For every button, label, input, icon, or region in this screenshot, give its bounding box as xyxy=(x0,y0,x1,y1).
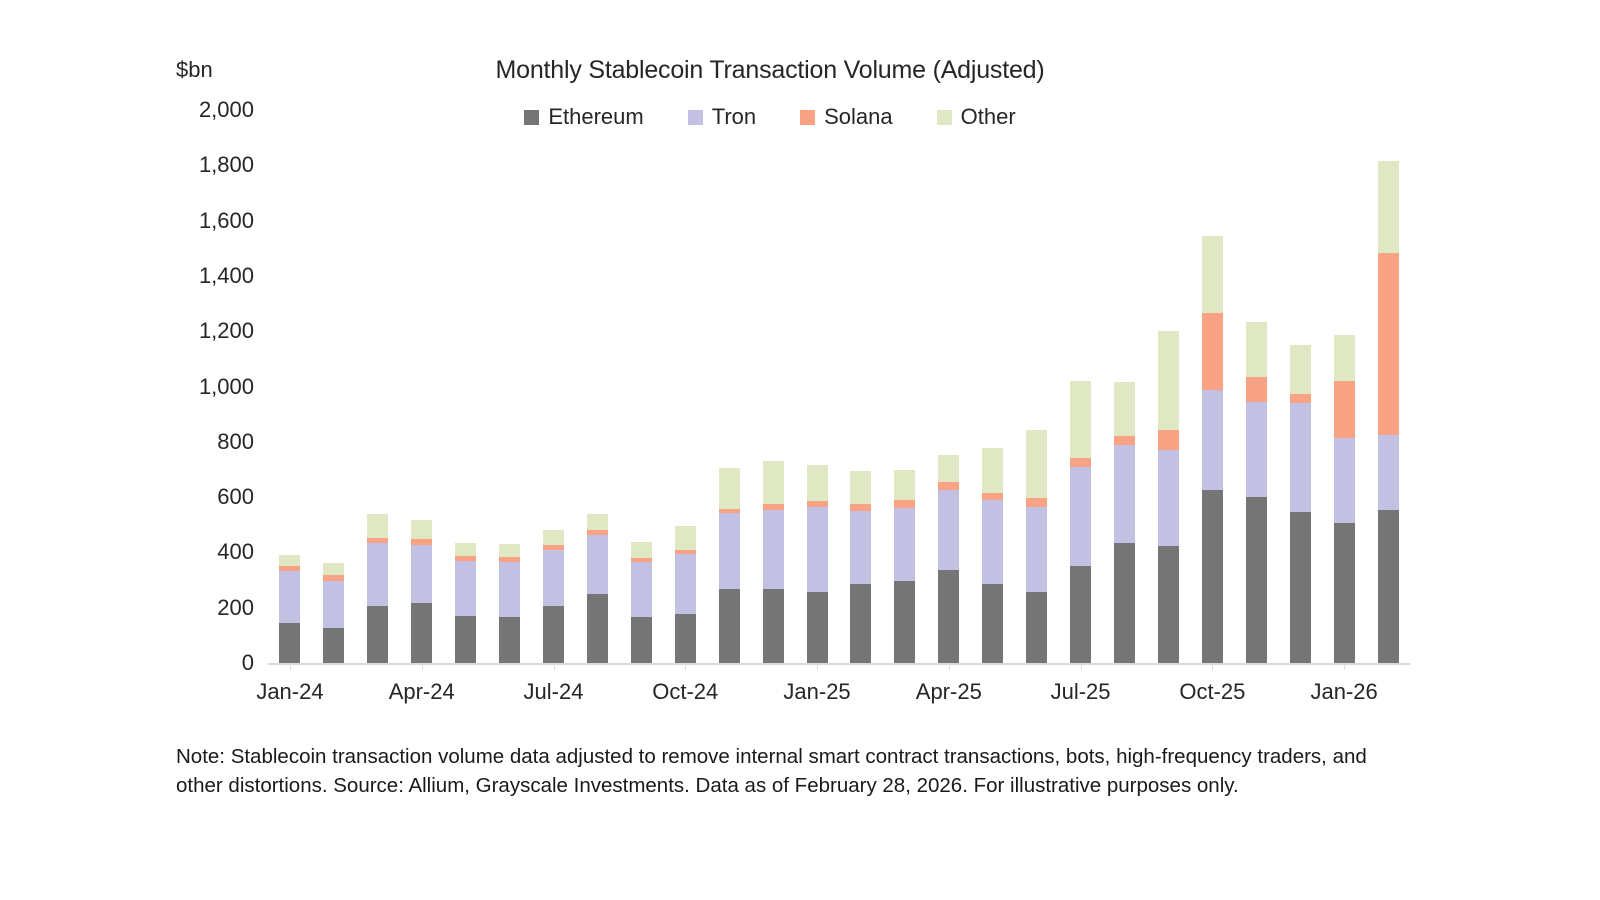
bar-segment-tron xyxy=(631,562,652,617)
bar-segment-ethereum xyxy=(1290,512,1311,663)
bar-segment-solana xyxy=(894,500,915,508)
x-axis-tick-label: Jan-26 xyxy=(1310,679,1377,705)
y-axis-unit-label: $bn xyxy=(176,57,213,83)
bar-segment-ethereum xyxy=(1334,523,1355,663)
bar-segment-tron xyxy=(587,535,608,594)
bar-segment-solana xyxy=(982,493,1003,501)
bar-segment-tron xyxy=(455,561,476,616)
bar-segment-ethereum xyxy=(982,584,1003,663)
x-axis-tick-mark xyxy=(290,663,291,670)
x-axis-tick-label: Oct-25 xyxy=(1179,679,1245,705)
bar-segment-other xyxy=(543,530,564,545)
bar-segment-ethereum xyxy=(323,628,344,663)
x-axis-tick-mark xyxy=(422,663,423,670)
bar-segment-ethereum xyxy=(1158,546,1179,663)
bar-segment-tron xyxy=(367,543,388,605)
bar-segment-other xyxy=(719,468,740,509)
bar-stack[interactable] xyxy=(1114,382,1135,663)
x-axis-tick-label: Jan-25 xyxy=(783,679,850,705)
bar-stack[interactable] xyxy=(279,555,300,663)
bar-segment-solana xyxy=(1070,458,1091,467)
bar-segment-tron xyxy=(1290,403,1311,512)
chart-footnote: Note: Stablecoin transaction volume data… xyxy=(176,742,1391,800)
bar-segment-ethereum xyxy=(1070,566,1091,663)
bar-segment-ethereum xyxy=(455,616,476,663)
bar-segment-ethereum xyxy=(279,623,300,663)
bar-stack[interactable] xyxy=(499,544,520,663)
bar-segment-tron xyxy=(763,510,784,590)
x-axis-tick-mark xyxy=(554,663,555,670)
y-axis-tick-label: 1,000 xyxy=(134,374,254,400)
bar-stack[interactable] xyxy=(807,465,828,663)
bar-segment-other xyxy=(850,471,871,504)
y-axis-tick-label: 800 xyxy=(134,429,254,455)
bar-segment-other xyxy=(587,514,608,530)
bar-stack[interactable] xyxy=(411,520,432,663)
bar-segment-ethereum xyxy=(675,614,696,663)
bar-segment-ethereum xyxy=(411,603,432,663)
bar-segment-tron xyxy=(1026,507,1047,593)
bar-segment-tron xyxy=(675,554,696,614)
bar-segment-solana xyxy=(1114,436,1135,445)
bar-segment-tron xyxy=(1158,450,1179,546)
x-axis-baseline xyxy=(268,663,1410,665)
bar-segment-other xyxy=(1026,430,1047,498)
bar-segment-other xyxy=(1114,382,1135,436)
bar-segment-tron xyxy=(323,581,344,627)
y-axis-tick-label: 1,600 xyxy=(134,208,254,234)
bar-stack[interactable] xyxy=(763,461,784,663)
bar-segment-other xyxy=(894,470,915,500)
bar-segment-other xyxy=(1158,331,1179,430)
x-axis-tick-label: Oct-24 xyxy=(652,679,718,705)
bar-segment-solana xyxy=(1158,430,1179,449)
bar-stack[interactable] xyxy=(1378,161,1399,663)
bar-segment-tron xyxy=(1334,438,1355,523)
bar-segment-other xyxy=(411,520,432,539)
y-axis-tick-label: 1,800 xyxy=(134,152,254,178)
bar-segment-solana xyxy=(1378,253,1399,435)
bar-segment-tron xyxy=(719,513,740,589)
bar-segment-other xyxy=(1334,335,1355,381)
bar-segment-ethereum xyxy=(850,584,871,663)
bar-segment-ethereum xyxy=(1026,592,1047,663)
y-axis-tick-label: 200 xyxy=(134,595,254,621)
bar-stack[interactable] xyxy=(938,455,959,663)
bar-segment-other xyxy=(367,514,388,537)
bar-segment-ethereum xyxy=(719,589,740,663)
bar-segment-other xyxy=(323,563,344,575)
bar-segment-ethereum xyxy=(1202,490,1223,663)
y-axis-tick-label: 1,400 xyxy=(134,263,254,289)
bar-segment-other xyxy=(1378,161,1399,252)
x-axis-tick-mark xyxy=(685,663,686,670)
bar-segment-tron xyxy=(1202,390,1223,491)
bar-segment-tron xyxy=(1378,435,1399,510)
bar-segment-ethereum xyxy=(1378,510,1399,663)
bar-segment-other xyxy=(279,555,300,566)
bar-segment-solana xyxy=(1246,377,1267,402)
plot-area xyxy=(268,110,1410,663)
bar-segment-solana xyxy=(850,504,871,511)
bar-segment-solana xyxy=(1334,381,1355,438)
x-axis-tick-label: Jul-25 xyxy=(1051,679,1111,705)
bar-segment-tron xyxy=(894,508,915,582)
bar-stack[interactable] xyxy=(587,514,608,663)
x-axis-tick-mark xyxy=(1081,663,1082,670)
bar-segment-solana xyxy=(938,482,959,490)
bar-segment-other xyxy=(455,543,476,556)
chart-figure: $bn Monthly Stablecoin Transaction Volum… xyxy=(0,0,1600,900)
bar-stack[interactable] xyxy=(455,543,476,663)
bar-segment-other xyxy=(1246,322,1267,376)
bar-segment-tron xyxy=(807,507,828,592)
bar-segment-other xyxy=(763,461,784,504)
bar-stack[interactable] xyxy=(1334,335,1355,663)
bar-segment-other xyxy=(675,526,696,550)
bar-segment-other xyxy=(938,455,959,483)
bar-segment-tron xyxy=(1070,467,1091,565)
bar-stack[interactable] xyxy=(982,448,1003,663)
bar-segment-ethereum xyxy=(807,592,828,663)
bar-segment-ethereum xyxy=(587,594,608,663)
bar-segment-ethereum xyxy=(367,606,388,664)
x-axis-tick-label: Jan-24 xyxy=(256,679,323,705)
bar-stack[interactable] xyxy=(719,468,740,663)
y-axis-tick-label: 2,000 xyxy=(134,97,254,123)
x-axis-tick-mark xyxy=(817,663,818,670)
bar-segment-solana xyxy=(1202,313,1223,390)
x-axis-tick-label: Jul-24 xyxy=(524,679,584,705)
bar-stack[interactable] xyxy=(1202,236,1223,663)
bar-segment-ethereum xyxy=(938,570,959,663)
bar-segment-other xyxy=(807,465,828,501)
bar-segment-tron xyxy=(1114,445,1135,543)
y-axis-tick-label: 1,200 xyxy=(134,318,254,344)
x-axis-tick-mark xyxy=(949,663,950,670)
bar-segment-ethereum xyxy=(543,606,564,664)
x-axis-tick-mark xyxy=(1344,663,1345,670)
bar-segment-tron xyxy=(850,511,871,585)
bar-segment-other xyxy=(982,448,1003,492)
bar-stack[interactable] xyxy=(1158,331,1179,663)
bar-segment-solana xyxy=(1026,498,1047,507)
bar-segment-ethereum xyxy=(1246,497,1267,663)
x-axis-tick-mark xyxy=(1212,663,1213,670)
bar-stack[interactable] xyxy=(850,471,871,663)
bar-segment-ethereum xyxy=(763,589,784,663)
bar-segment-other xyxy=(1070,381,1091,458)
x-axis-tick-label: Apr-25 xyxy=(916,679,982,705)
y-axis-tick-label: 600 xyxy=(134,484,254,510)
y-axis-tick-label: 0 xyxy=(134,650,254,676)
bar-stack[interactable] xyxy=(1246,322,1267,663)
bar-segment-tron xyxy=(499,562,520,617)
bar-stack[interactable] xyxy=(543,530,564,663)
bar-segment-tron xyxy=(982,500,1003,584)
bar-stack[interactable] xyxy=(1070,381,1091,663)
bar-stack[interactable] xyxy=(675,526,696,663)
bar-segment-ethereum xyxy=(499,617,520,663)
bar-segment-other xyxy=(631,542,652,558)
x-axis-tick-label: Apr-24 xyxy=(389,679,455,705)
bar-segment-ethereum xyxy=(894,581,915,663)
bar-stack[interactable] xyxy=(1290,345,1311,664)
y-axis-tick-label: 400 xyxy=(134,539,254,565)
bar-stack[interactable] xyxy=(894,470,915,663)
bar-series-container xyxy=(268,110,1410,663)
bar-stack[interactable] xyxy=(631,542,652,663)
bar-segment-other xyxy=(499,544,520,557)
bar-segment-tron xyxy=(938,490,959,569)
bar-segment-tron xyxy=(279,571,300,623)
bar-stack[interactable] xyxy=(323,563,344,663)
bar-segment-ethereum xyxy=(631,617,652,663)
bar-segment-tron xyxy=(543,550,564,605)
bar-segment-other xyxy=(1290,345,1311,394)
bar-segment-tron xyxy=(411,545,432,604)
bar-segment-ethereum xyxy=(1114,543,1135,663)
bar-segment-solana xyxy=(1290,394,1311,403)
bar-segment-tron xyxy=(1246,402,1267,497)
bar-stack[interactable] xyxy=(367,514,388,663)
chart-title: Monthly Stablecoin Transaction Volume (A… xyxy=(300,56,1240,85)
bar-segment-other xyxy=(1202,236,1223,313)
bar-stack[interactable] xyxy=(1026,430,1047,663)
